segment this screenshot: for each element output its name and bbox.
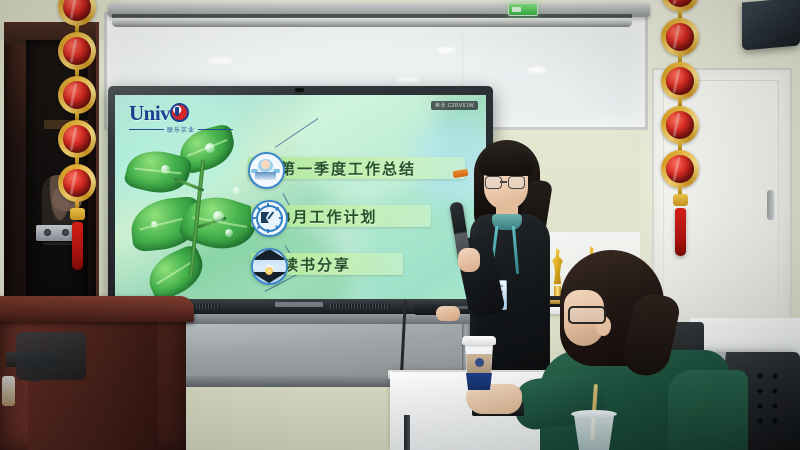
logo-subtitle: 联乐实业 [167, 125, 195, 134]
slide-item-2-label: 读书分享 [283, 254, 351, 275]
red-lantern-string-left [55, 0, 99, 270]
podium-top-surface [0, 296, 194, 322]
eyeglasses-bridge [500, 181, 507, 183]
slide-item-1-label: 4月工作计划 [283, 206, 378, 227]
open-book-icon [251, 248, 288, 285]
coffee-brand-mark [475, 358, 484, 367]
display-camera-icon [295, 88, 304, 92]
wall-speaker-unit [742, 0, 800, 51]
emergency-exit-sign [508, 3, 538, 16]
attendee-shoulder [668, 370, 748, 450]
water-bottle [2, 376, 15, 406]
table-leg [404, 415, 410, 450]
display-speaker-grille [330, 304, 390, 309]
slide-item-1[interactable]: 4月工作计划 [251, 205, 431, 227]
chair-background[interactable] [16, 332, 86, 380]
display-screen[interactable]: Univ 联乐实业 希沃 C2RV61W 第一季度工作总结 [115, 95, 486, 301]
attendee-person [540, 250, 740, 450]
display-brand-label [275, 302, 323, 307]
person-laptop-icon [248, 152, 285, 189]
roller-bar [112, 18, 632, 27]
attendee-eyeglasses [568, 306, 606, 324]
microphone-band [453, 169, 469, 178]
presenter-eyeglasses [508, 176, 525, 189]
logo-subtitle-wrap: 联乐实业 [129, 125, 233, 134]
slide-item-0-label: 第一季度工作总结 [280, 158, 416, 179]
door-handle[interactable] [767, 190, 774, 220]
logo-o-icon [170, 103, 189, 122]
presenter-fringe [479, 148, 533, 176]
slide-item-2[interactable]: 读书分享 [251, 253, 403, 275]
red-lantern-string-right [658, 0, 702, 256]
slide-item-0[interactable]: 第一季度工作总结 [248, 157, 465, 179]
logo-text-uni: Univ [129, 101, 170, 125]
univo-logo: Univ 联乐实业 [129, 103, 233, 133]
plastic-cup-with-straw[interactable] [572, 408, 616, 450]
paper-coffee-cup[interactable] [464, 336, 494, 390]
coffee-lid [462, 336, 496, 345]
screenshot-root: Univ 联乐实业 希沃 C2RV61W 第一季度工作总结 [0, 0, 800, 450]
stopwatch-icon [251, 200, 288, 237]
presenter-hand [458, 248, 480, 272]
presenter-hand [436, 306, 460, 321]
display-stand-panel [140, 324, 465, 376]
display-corner-badge: 希沃 C2RV61W [431, 101, 478, 110]
